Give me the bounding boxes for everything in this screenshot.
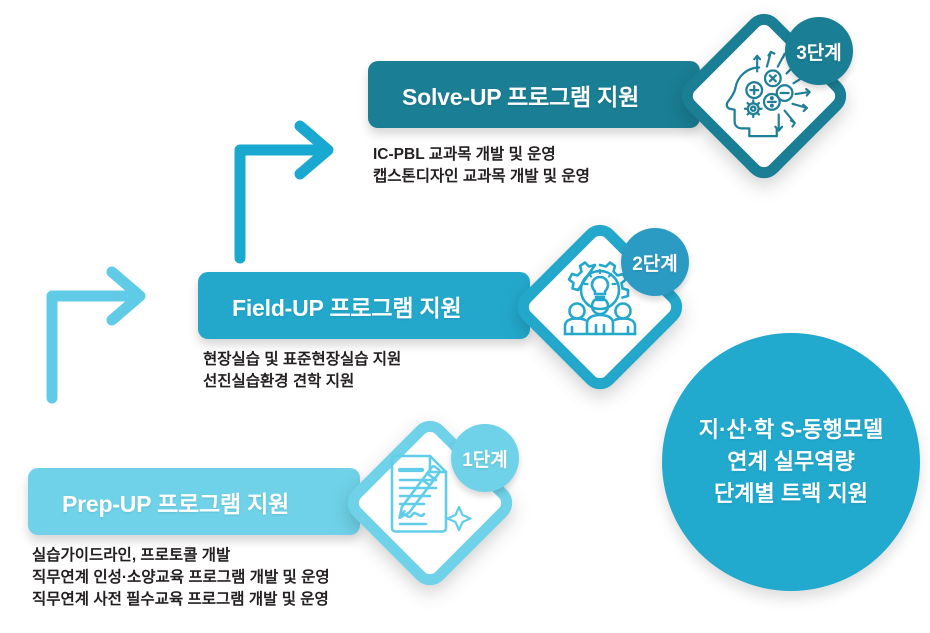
stage-2-title-label: Field-UP 프로그램 지원	[232, 289, 461, 323]
stage-3-descriptions: IC-PBL 교과목 개발 및 운영 캡스톤디자인 교과목 개발 및 운영	[373, 144, 590, 188]
stage-3-description-line: IC-PBL 교과목 개발 및 운영	[373, 144, 590, 166]
stage-2-badge-label: 2단계	[632, 249, 678, 276]
summary-line: 지·산·학 S-동행모델	[699, 414, 883, 446]
stage-2-badge[interactable]: 2단계	[621, 228, 689, 296]
stage-1-descriptions: 실습가이드라인, 프로토콜 개발 직무연계 인성·소양교육 프로그램 개발 및 …	[32, 545, 330, 611]
arrow-stage2-to-stage3	[232, 62, 342, 262]
stage-1-description-line: 직무연계 인성·소양교육 프로그램 개발 및 운영	[32, 567, 330, 589]
stage-1-badge[interactable]: 1단계	[451, 424, 519, 492]
stage-3-title-label: Solve-UP 프로그램 지원	[402, 78, 639, 112]
stage-2-description-line: 선진실습환경 견학 지원	[203, 371, 401, 393]
stage-2-descriptions: 현장실습 및 표준현장실습 지원 선진실습환경 견학 지원	[203, 349, 401, 393]
stage-3-description-line: 캡스톤디자인 교과목 개발 및 운영	[373, 166, 590, 188]
stage-3-badge[interactable]: 3단계	[785, 17, 853, 85]
summary-line: 연계 실무역량	[727, 446, 855, 478]
stage-1-title-bar[interactable]: Prep-UP 프로그램 지원	[28, 468, 360, 535]
arrow-stage1-to-stage2	[44, 272, 154, 472]
stage-1-description-line: 실습가이드라인, 프로토콜 개발	[32, 545, 330, 567]
stage-1-description-line: 직무연계 사전 필수교육 프로그램 개발 및 운영	[32, 589, 330, 611]
infographic-canvas: Solve-UP 프로그램 지원	[0, 0, 930, 633]
summary-circle[interactable]: 지·산·학 S-동행모델 연계 실무역량 단계별 트랙 지원	[662, 333, 920, 591]
stage-2-description-line: 현장실습 및 표준현장실습 지원	[203, 349, 401, 371]
stage-1-badge-label: 1단계	[462, 445, 508, 472]
stage-3-title-bar[interactable]: Solve-UP 프로그램 지원	[368, 61, 700, 128]
stage-3-badge-label: 3단계	[796, 38, 842, 65]
summary-line: 단계별 트랙 지원	[714, 478, 868, 510]
stage-1-title-label: Prep-UP 프로그램 지원	[62, 485, 289, 519]
stage-2-title-bar[interactable]: Field-UP 프로그램 지원	[198, 272, 530, 339]
